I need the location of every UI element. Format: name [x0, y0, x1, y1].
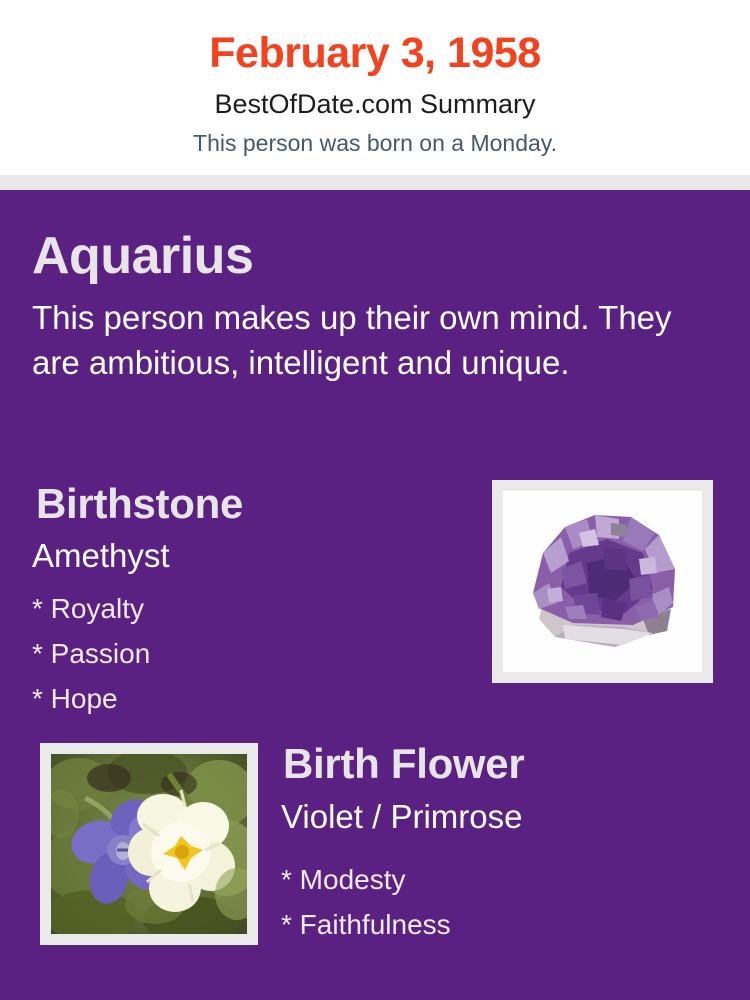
- violet-primrose-flower-icon: [51, 754, 247, 934]
- date-summary-card: February 3, 1958 BestOfDate.com Summary …: [0, 0, 750, 1000]
- birthstone-traits-list: * Royalty * Passion * Hope: [32, 586, 150, 721]
- site-summary-label: BestOfDate.com Summary: [0, 88, 750, 121]
- list-item: * Hope: [32, 676, 150, 721]
- birth-flower-traits-list: * Modesty * Faithfulness: [281, 857, 451, 947]
- header-divider: [0, 175, 750, 190]
- zodiac-description: This person makes up their own mind. The…: [32, 295, 680, 385]
- birthstone-image-frame: [492, 480, 713, 683]
- page-title: February 3, 1958: [0, 27, 750, 79]
- list-item: * Faithfulness: [281, 902, 451, 947]
- birth-flower-image-frame: [40, 743, 258, 945]
- flower-photo: [51, 754, 247, 934]
- list-item: * Royalty: [32, 586, 150, 631]
- amethyst-crystal-icon: [503, 491, 702, 672]
- birth-flower-heading: Birth Flower: [283, 739, 524, 789]
- birthstone-heading: Birthstone: [36, 479, 243, 529]
- birth-flower-name: Violet / Primrose: [281, 797, 522, 837]
- list-item: * Modesty: [281, 857, 451, 902]
- card-header: February 3, 1958 BestOfDate.com Summary …: [0, 0, 750, 175]
- zodiac-sign-name: Aquarius: [32, 226, 253, 286]
- birthstone-name: Amethyst: [32, 536, 170, 576]
- list-item: * Passion: [32, 631, 150, 676]
- amethyst-photo: [503, 491, 702, 672]
- born-day-text: This person was born on a Monday.: [0, 129, 750, 157]
